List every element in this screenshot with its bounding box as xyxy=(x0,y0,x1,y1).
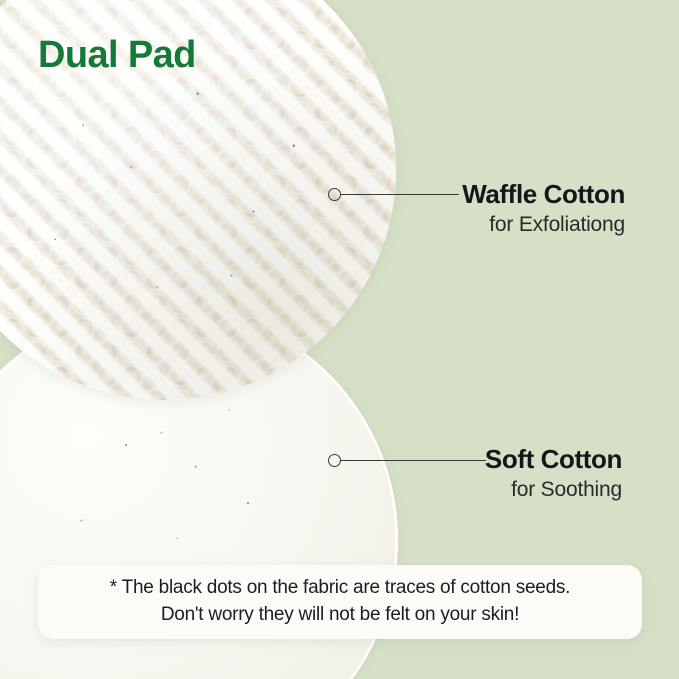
callout-waffle-title: Waffle Cotton xyxy=(325,180,625,209)
disclaimer-line-1: * The black dots on the fabric are trace… xyxy=(110,575,570,602)
callout-soft-text: Soft Cotton for Soothing xyxy=(322,445,622,505)
product-infographic: Dual Pad Waffle Cotton for Exfoliationg … xyxy=(0,0,679,679)
disclaimer-note-box: * The black dots on the fabric are trace… xyxy=(38,565,642,639)
callout-waffle-text: Waffle Cotton for Exfoliationg xyxy=(325,180,625,240)
disclaimer-line-2: Don't worry they will not be felt on you… xyxy=(161,602,519,629)
page-title: Dual Pad xyxy=(38,34,196,77)
callout-waffle-subtitle: for Exfoliationg xyxy=(325,209,625,241)
callout-soft-subtitle: for Soothing xyxy=(322,474,622,506)
callout-soft-title: Soft Cotton xyxy=(322,445,622,474)
